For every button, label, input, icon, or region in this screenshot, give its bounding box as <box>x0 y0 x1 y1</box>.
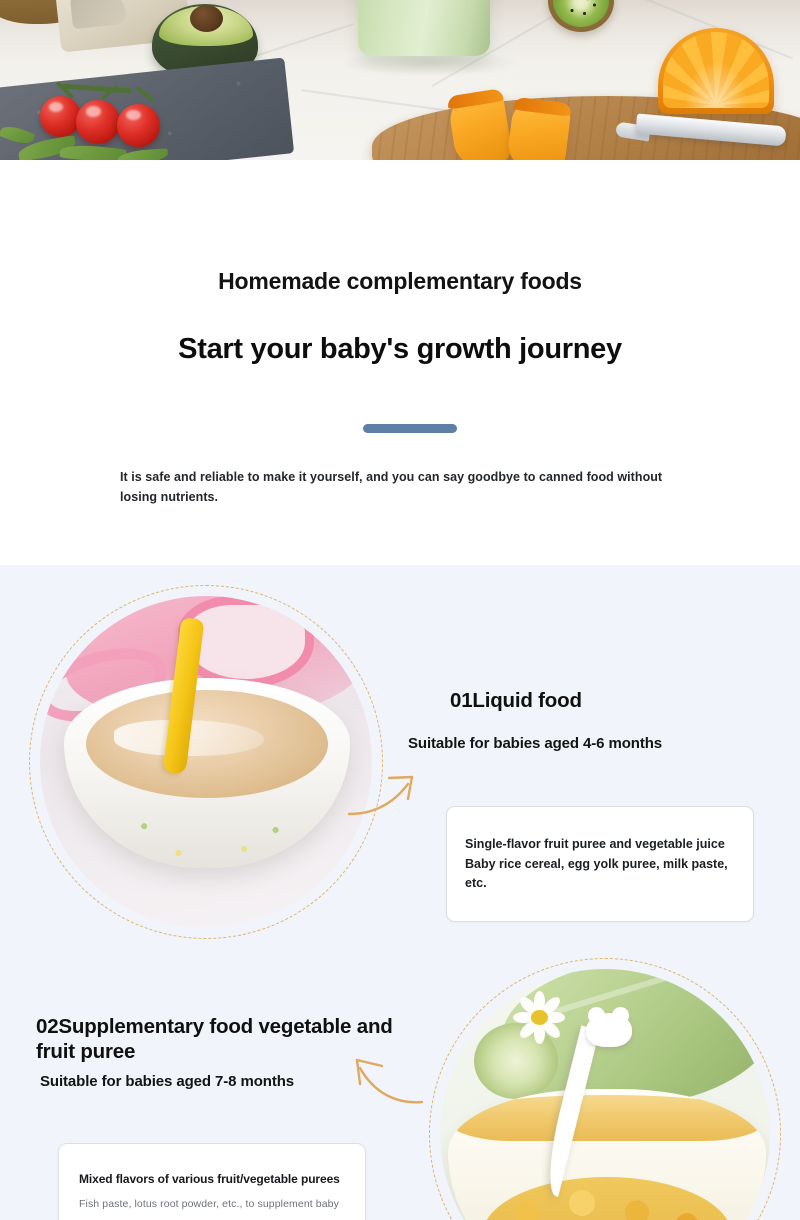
mint-green-jar <box>358 0 490 56</box>
cherry-tomato <box>40 96 81 137</box>
white-bowl <box>64 678 350 868</box>
orange-wedge <box>506 97 572 160</box>
white-spoon-bear-head <box>586 1013 632 1047</box>
feature-2-card-note: Fish paste, lotus root powder, etc., to … <box>79 1197 355 1213</box>
cherry-tomato <box>117 104 160 147</box>
bowl-floral-pattern <box>64 678 350 868</box>
orange-half-slice <box>658 28 774 114</box>
curved-arrow-left-icon <box>336 1046 426 1117</box>
feature-1-info-card: Single-flavor fruit puree and vegetable … <box>446 806 754 922</box>
orange-flesh <box>663 32 769 108</box>
bowl-yellow-band <box>448 1095 766 1141</box>
orange-rind <box>447 88 504 110</box>
avocado-pit <box>190 5 223 32</box>
intro-paragraph: It is safe and reliable to make it yours… <box>120 467 700 508</box>
chunky-vegetable-puree <box>482 1177 732 1220</box>
hero-image <box>0 0 800 160</box>
orange-wedge <box>447 88 514 160</box>
section-divider-bar <box>363 424 457 433</box>
daisy-flower <box>514 995 566 1041</box>
intro-subtitle: Start your baby's growth journey <box>0 333 800 366</box>
feature-2-card-heading: Mixed flavors of various fruit/vegetable… <box>79 1172 353 1186</box>
intro-title: Homemade complementary foods <box>0 268 800 295</box>
curved-arrow-right-icon <box>346 764 432 831</box>
feature-2-subtitle: Suitable for babies aged 7-8 months <box>40 1073 294 1090</box>
hero-photo-marble-counter <box>0 0 800 160</box>
liquid-food-photo <box>40 596 372 928</box>
kiwi-seeds <box>553 0 609 27</box>
feature-2-info-card: Mixed flavors of various fruit/vegetable… <box>58 1143 366 1220</box>
feature-1-title: 01Liquid food <box>450 689 582 713</box>
cherry-tomato <box>76 100 120 144</box>
vegetable-puree-photo <box>440 969 770 1220</box>
feature-1-card-text: Single-flavor fruit puree and vegetable … <box>465 835 737 894</box>
feature-1-subtitle: Suitable for babies aged 4-6 months <box>408 735 662 752</box>
kiwi-half <box>548 0 614 32</box>
feature-2-photo <box>440 969 770 1220</box>
yellow-rimmed-bowl <box>448 1089 766 1220</box>
feature-1-photo <box>40 596 372 928</box>
product-detail-page: Homemade complementary foods Start your … <box>0 0 800 1220</box>
